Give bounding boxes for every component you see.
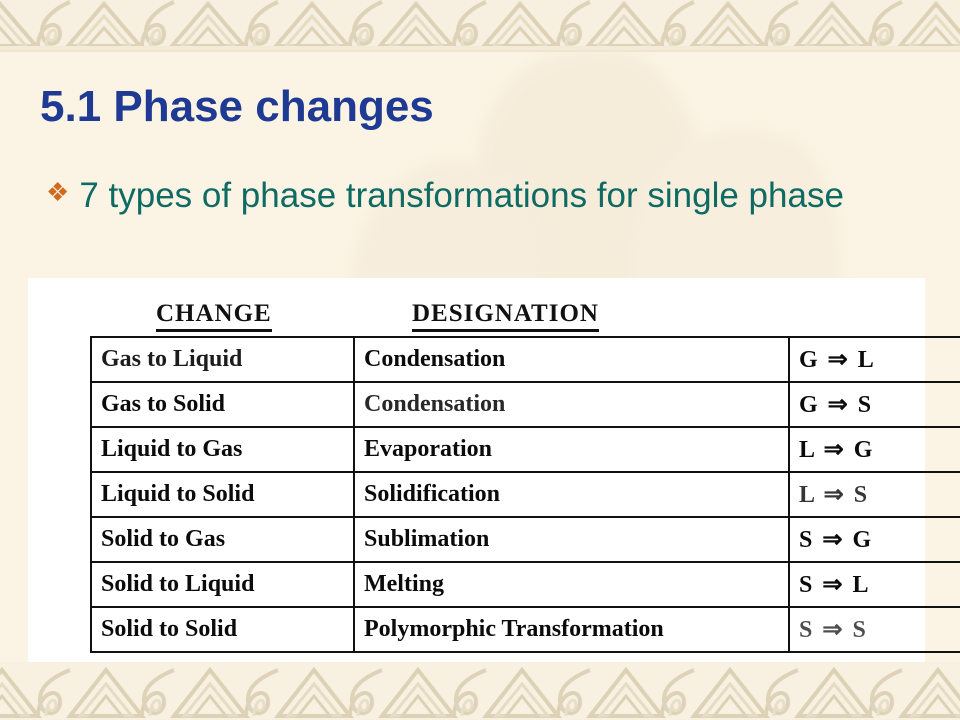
scanned-table-panel: CHANGE DESIGNATION Gas to Liquid Condens… xyxy=(28,278,925,662)
cell-designation: Polymorphic Transformation xyxy=(354,607,789,652)
bottom-ornamental-border xyxy=(0,662,960,720)
slide-title: 5.1 Phase changes xyxy=(40,82,434,132)
cell-designation: Condensation xyxy=(354,382,789,427)
diamond-bullet-icon: ❖ xyxy=(46,172,69,212)
bullet-list-item: ❖ 7 types of phase transformations for s… xyxy=(46,172,916,219)
cell-designation: Solidification xyxy=(354,472,789,517)
cell-change: Gas to Liquid xyxy=(91,337,354,382)
cell-designation: Evaporation xyxy=(354,427,789,472)
cell-symbol: S ⇒ S xyxy=(789,607,960,652)
table-row: Solid to Solid Polymorphic Transformatio… xyxy=(91,607,960,652)
phase-change-table: Gas to Liquid Condensation G ⇒ L Gas to … xyxy=(90,336,960,653)
table-row: Gas to Liquid Condensation G ⇒ L xyxy=(91,337,960,382)
cell-symbol: L ⇒ G xyxy=(789,427,960,472)
bullet-text: 7 types of phase transformations for sin… xyxy=(79,172,844,219)
phase-change-table-body: Gas to Liquid Condensation G ⇒ L Gas to … xyxy=(91,337,960,652)
table-header-row: CHANGE DESIGNATION xyxy=(90,300,906,336)
cell-change: Gas to Solid xyxy=(91,382,354,427)
cell-designation: Condensation xyxy=(354,337,789,382)
table-row: Solid to Liquid Melting S ⇒ L xyxy=(91,562,960,607)
cell-change: Solid to Solid xyxy=(91,607,354,652)
cell-designation: Sublimation xyxy=(354,517,789,562)
table-header-designation: DESIGNATION xyxy=(412,300,599,332)
table-row: Gas to Solid Condensation G ⇒ S xyxy=(91,382,960,427)
top-ornamental-border xyxy=(0,0,960,52)
table-header-change: CHANGE xyxy=(156,300,272,332)
cell-change: Liquid to Solid xyxy=(91,472,354,517)
slide: 5.1 Phase changes ❖ 7 types of phase tra… xyxy=(0,0,960,720)
cell-change: Solid to Gas xyxy=(91,517,354,562)
table-row: Solid to Gas Sublimation S ⇒ G xyxy=(91,517,960,562)
cell-symbol: G ⇒ S xyxy=(789,382,960,427)
cell-designation: Melting xyxy=(354,562,789,607)
table-row: Liquid to Solid Solidification L ⇒ S xyxy=(91,472,960,517)
cell-change: Solid to Liquid xyxy=(91,562,354,607)
cell-symbol: L ⇒ S xyxy=(789,472,960,517)
cell-symbol: S ⇒ G xyxy=(789,517,960,562)
cell-symbol: S ⇒ L xyxy=(789,562,960,607)
table-row: Liquid to Gas Evaporation L ⇒ G xyxy=(91,427,960,472)
cell-change: Liquid to Gas xyxy=(91,427,354,472)
cell-symbol: G ⇒ L xyxy=(789,337,960,382)
